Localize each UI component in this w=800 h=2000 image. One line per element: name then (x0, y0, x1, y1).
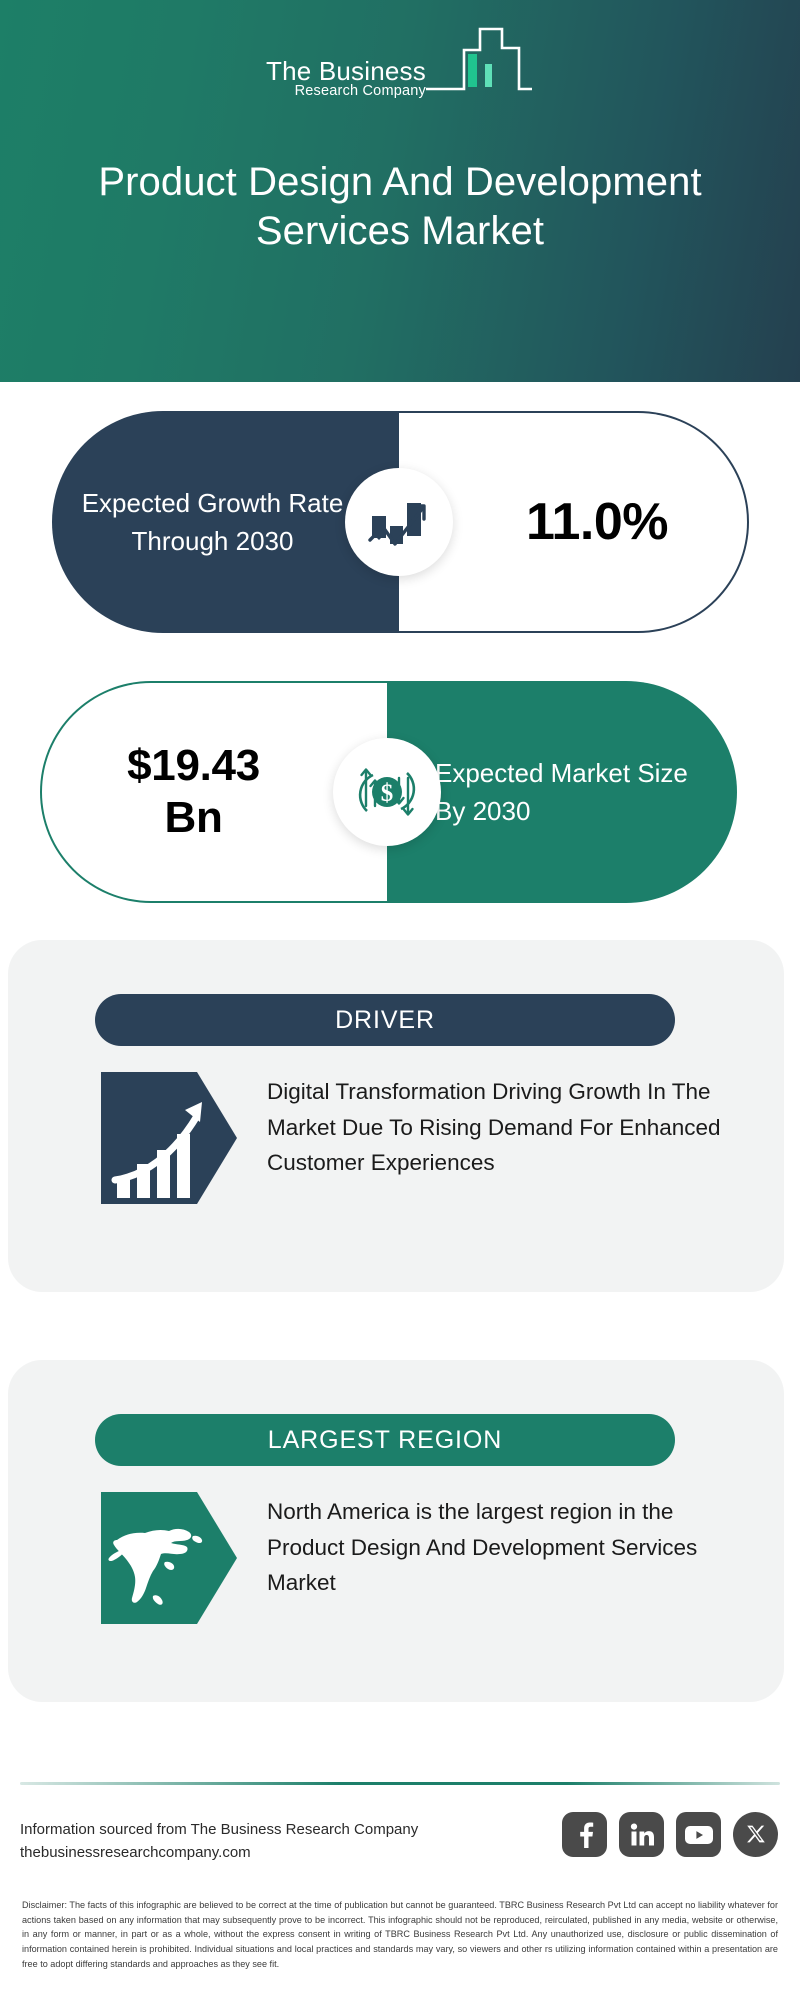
logo-wordmark: The Business Research Company (266, 58, 426, 103)
stat-card-market-size-value: $19.43 Bn (127, 740, 302, 844)
infographic-page: The Business Research Company Product De… (0, 0, 800, 2000)
page-title: Product Design And Development Services … (0, 158, 800, 256)
growth-chart-arrow-icon (345, 468, 453, 576)
logo-line-1: The Business (266, 58, 426, 85)
social-links (562, 1812, 778, 1857)
driver-pill: DRIVER (95, 994, 675, 1046)
stat-card-growth-rate: Expected Growth Rate Through 2030 11.0% (52, 411, 749, 633)
x-twitter-icon[interactable] (733, 1812, 778, 1857)
linkedin-icon[interactable] (619, 1812, 664, 1857)
stat-card-market-size-value-line1: $19.43 (127, 740, 260, 792)
disclaimer-text: Disclaimer: The facts of this infographi… (22, 1898, 778, 1972)
stat-card-growth-rate-value: 11.0% (478, 492, 668, 552)
dollar-circle-arrows-icon: $ (333, 738, 441, 846)
logo-line-2: Research Company (295, 84, 426, 99)
driver-panel: DRIVER Digital Transformation Driving Gr… (8, 940, 784, 1292)
footer-website-url[interactable]: thebusinessresearchcompany.com (20, 1841, 418, 1864)
footer-source-info: Information sourced from The Business Re… (20, 1818, 418, 1865)
svg-text:$: $ (381, 780, 394, 807)
driver-panel-body: Digital Transformation Driving Growth In… (101, 1072, 724, 1204)
company-logo: The Business Research Company (0, 26, 800, 103)
driver-pill-label: DRIVER (335, 1006, 435, 1035)
largest-region-panel-text: North America is the largest region in t… (267, 1492, 724, 1601)
stat-card-market-size: $19.43 Bn Expected Market Size By 2030 (40, 681, 737, 903)
stat-card-market-size-value-line2: Bn (127, 792, 260, 844)
bar-chart-logo-mark (424, 26, 534, 101)
north-america-map-pentagon-icon (101, 1492, 241, 1624)
footer-source-line1: Information sourced from The Business Re… (20, 1818, 418, 1841)
driver-panel-text: Digital Transformation Driving Growth In… (267, 1072, 724, 1181)
header-banner: The Business Research Company Product De… (0, 0, 800, 382)
largest-region-pill: LARGEST REGION (95, 1414, 675, 1466)
growth-bars-arrow-pentagon-icon (101, 1072, 241, 1204)
youtube-icon[interactable] (676, 1812, 721, 1857)
facebook-icon[interactable] (562, 1812, 607, 1857)
largest-region-pill-label: LARGEST REGION (268, 1426, 502, 1455)
footer-divider (20, 1782, 780, 1785)
largest-region-panel-body: North America is the largest region in t… (101, 1492, 724, 1624)
largest-region-panel: LARGEST REGION North America is the larg… (8, 1360, 784, 1702)
